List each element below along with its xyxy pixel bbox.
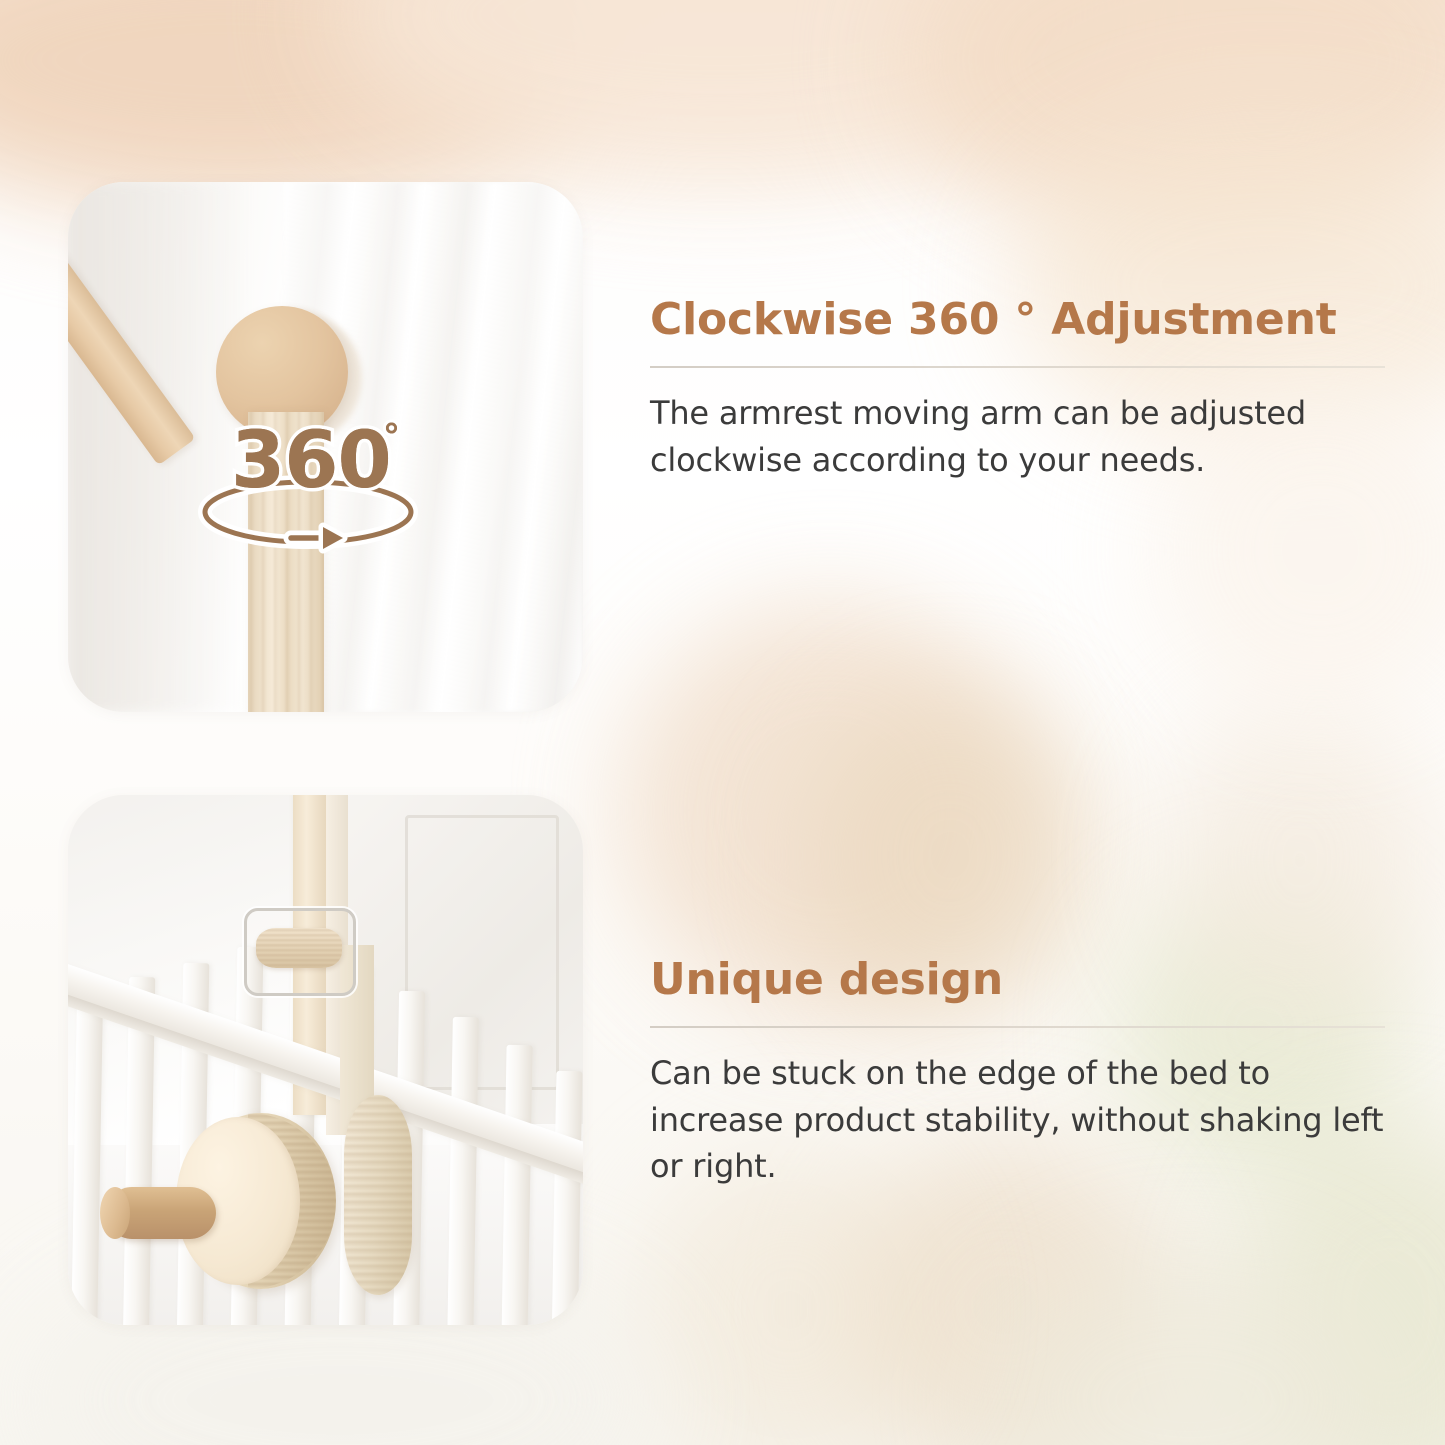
feature-title: Clockwise 360 ° Adjustment [650, 292, 1385, 348]
crib-slat [552, 1071, 583, 1325]
feature-title: Unique design [650, 952, 1385, 1008]
swivel-arm-photo: 360 360 ° ° [68, 182, 583, 712]
rotation-badge: 360 360 ° ° [183, 414, 433, 554]
rotation-badge-value: 360 [231, 422, 391, 500]
product-feature-infographic: 360 360 ° ° Clockwise 360 ° Adjustment T… [0, 0, 1445, 1445]
feature-image-unique-design [68, 795, 583, 1325]
wooden-peg-cap [100, 1187, 130, 1239]
crib-clamp-photo [68, 795, 583, 1325]
crib-slat [71, 991, 103, 1325]
feature-description: Can be stuck on the edge of the bed to i… [650, 1028, 1385, 1189]
title-divider [650, 1026, 1385, 1028]
crib-slat [447, 1017, 479, 1325]
plywood-layer-lines [344, 1095, 412, 1295]
title-divider [650, 366, 1385, 368]
feature-text-unique-design: Unique design Can be stuck on the edge o… [650, 952, 1385, 1189]
feature-text-clockwise-360-adjustment: Clockwise 360 ° Adjustment The armrest m… [650, 292, 1385, 483]
degree-symbol: ° [383, 420, 400, 454]
detail-callout-box [244, 908, 356, 996]
crib-slat [501, 1045, 532, 1325]
feature-description: The armrest moving arm can be adjusted c… [650, 368, 1385, 483]
feature-image-clockwise-360-adjustment: 360 360 ° ° [68, 182, 583, 712]
